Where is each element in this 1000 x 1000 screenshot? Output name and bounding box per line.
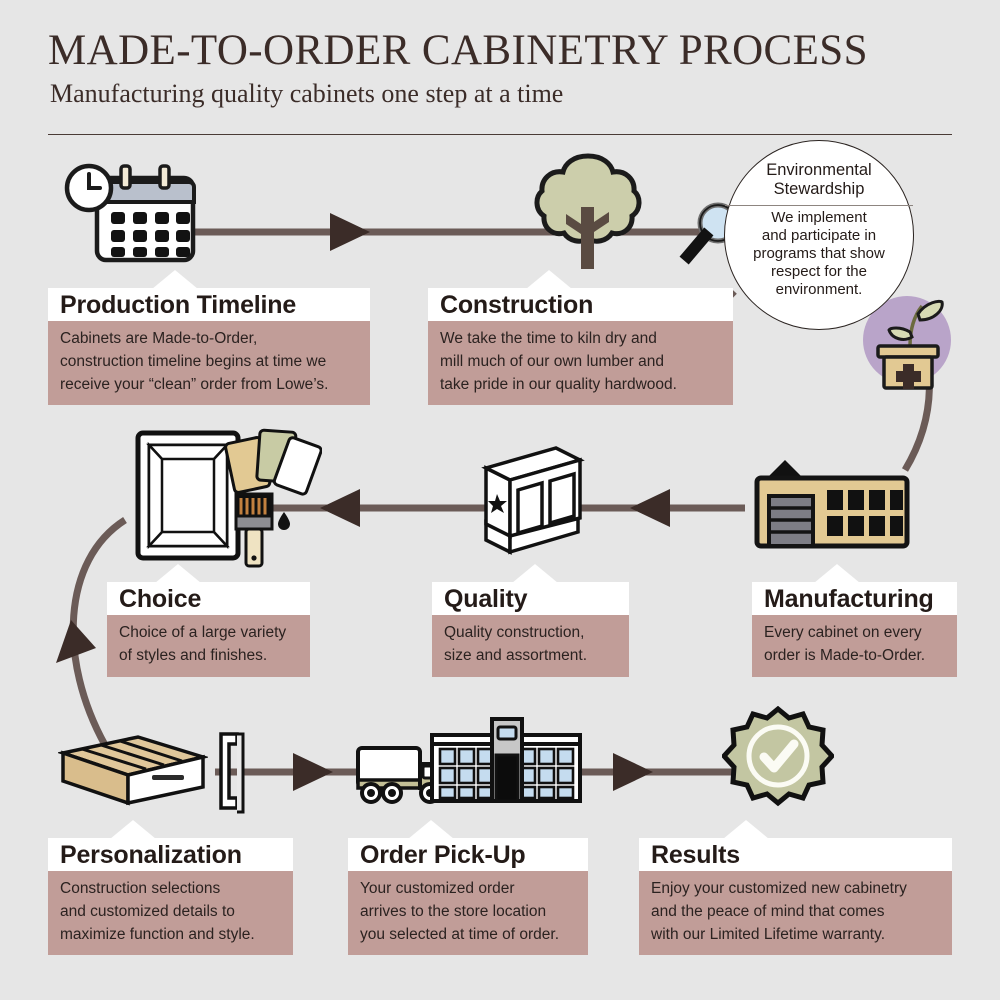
card-pointer bbox=[152, 270, 198, 289]
callout-divider bbox=[725, 205, 913, 206]
card-title: Manufacturing bbox=[752, 582, 957, 615]
callout-body: We implement and participate in programs… bbox=[737, 209, 901, 299]
card-choice[interactable]: Choice Choice of a large variety of styl… bbox=[107, 582, 310, 677]
card-pointer bbox=[408, 820, 454, 839]
card-quality[interactable]: Quality Quality construction, size and a… bbox=[432, 582, 629, 677]
card-pointer bbox=[512, 564, 558, 583]
environmental-stewardship-callout[interactable]: Environmental Stewardship We implement a… bbox=[724, 140, 914, 330]
card-body: Your customized order arrives to the sto… bbox=[348, 871, 588, 955]
card-body: We take the time to kiln dry and mill mu… bbox=[428, 321, 733, 405]
card-title: Results bbox=[639, 838, 952, 871]
arrowhead-row2-right bbox=[630, 489, 670, 527]
card-title: Personalization bbox=[48, 838, 293, 871]
card-title: Production Timeline bbox=[48, 288, 370, 321]
card-personalization[interactable]: Personalization Construction selections … bbox=[48, 838, 293, 955]
infographic-root: MADE-TO-ORDER CABINETRY PROCESS Manufact… bbox=[0, 0, 1000, 1000]
cabinet-icon bbox=[470, 440, 595, 565]
card-body: Quality construction, size and assortmen… bbox=[432, 615, 629, 677]
card-body: Cabinets are Made-to-Order, construction… bbox=[48, 321, 370, 405]
card-order-pick-up[interactable]: Order Pick-Up Your customized order arri… bbox=[348, 838, 588, 955]
check-seal-icon bbox=[722, 706, 834, 818]
card-pointer bbox=[155, 564, 201, 583]
paint-brush-icon bbox=[226, 490, 294, 570]
card-results[interactable]: Results Enjoy your customized new cabine… bbox=[639, 838, 952, 955]
arrowhead-row1 bbox=[330, 213, 370, 251]
card-manufacturing[interactable]: Manufacturing Every cabinet on every ord… bbox=[752, 582, 957, 677]
card-title: Construction bbox=[428, 288, 733, 321]
card-body: Every cabinet on every order is Made-to-… bbox=[752, 615, 957, 677]
tree-icon bbox=[533, 152, 643, 272]
calendar-clock-icon bbox=[60, 160, 205, 270]
card-pointer bbox=[814, 564, 860, 583]
card-title: Choice bbox=[107, 582, 310, 615]
card-pointer bbox=[110, 820, 156, 839]
drawer-icon bbox=[58, 725, 208, 817]
arrowhead-row2-left bbox=[320, 489, 360, 527]
arrowhead-row3-left bbox=[293, 753, 333, 791]
cabinet-pull-icon bbox=[213, 728, 249, 818]
card-pointer bbox=[526, 270, 572, 289]
arrowhead-row3-right bbox=[613, 753, 653, 791]
factory-icon bbox=[745, 450, 920, 555]
card-title: Quality bbox=[432, 582, 629, 615]
callout-title: Environmental Stewardship bbox=[766, 161, 871, 200]
card-pointer bbox=[723, 820, 769, 839]
card-production-timeline[interactable]: Production Timeline Cabinets are Made-to… bbox=[48, 288, 370, 405]
card-body: Enjoy your customized new cabinetry and … bbox=[639, 871, 952, 955]
card-title: Order Pick-Up bbox=[348, 838, 588, 871]
card-body: Construction selections and customized d… bbox=[48, 871, 293, 955]
card-construction[interactable]: Construction We take the time to kiln dr… bbox=[428, 288, 733, 405]
card-body: Choice of a large variety of styles and … bbox=[107, 615, 310, 677]
store-icon bbox=[426, 715, 586, 810]
